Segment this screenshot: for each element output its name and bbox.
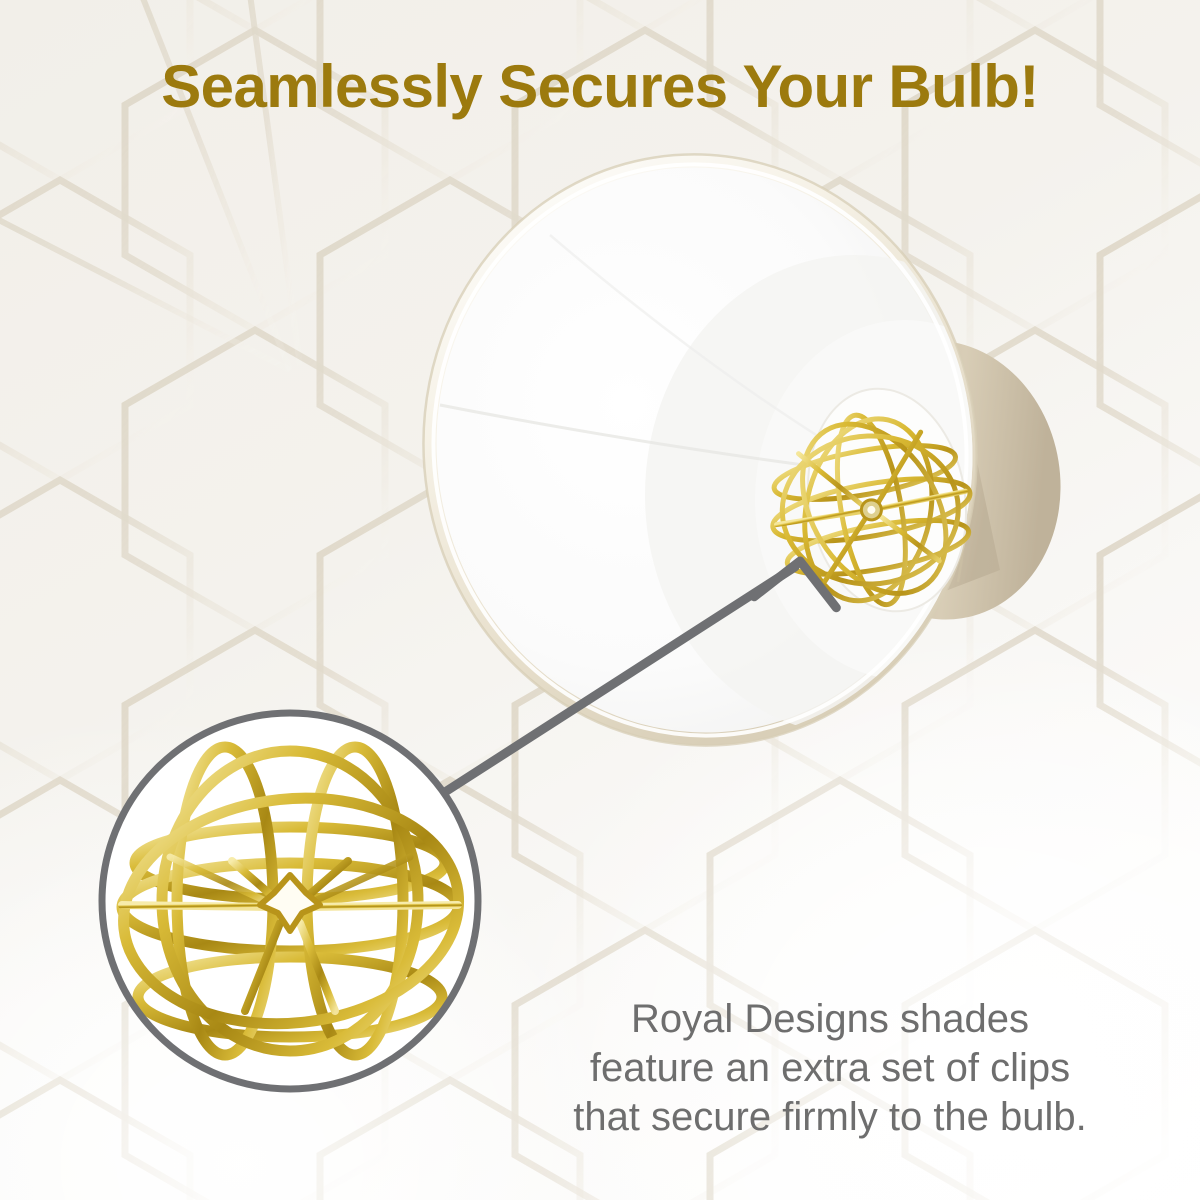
product-feature-image: Seamlessly Secures Your Bulb! [0,0,1200,1200]
caption-line-1: Royal Designs shades [500,995,1160,1044]
leader-line [445,567,795,792]
caption-line-3: that secure firmly to the bulb. [500,1093,1160,1142]
magnifier-circle-icon [102,691,478,1116]
arrow-up-right-icon [751,558,836,642]
caption-text: Royal Designs shades feature an extra se… [500,995,1160,1142]
caption-line-2: feature an extra set of clips [500,1044,1160,1093]
